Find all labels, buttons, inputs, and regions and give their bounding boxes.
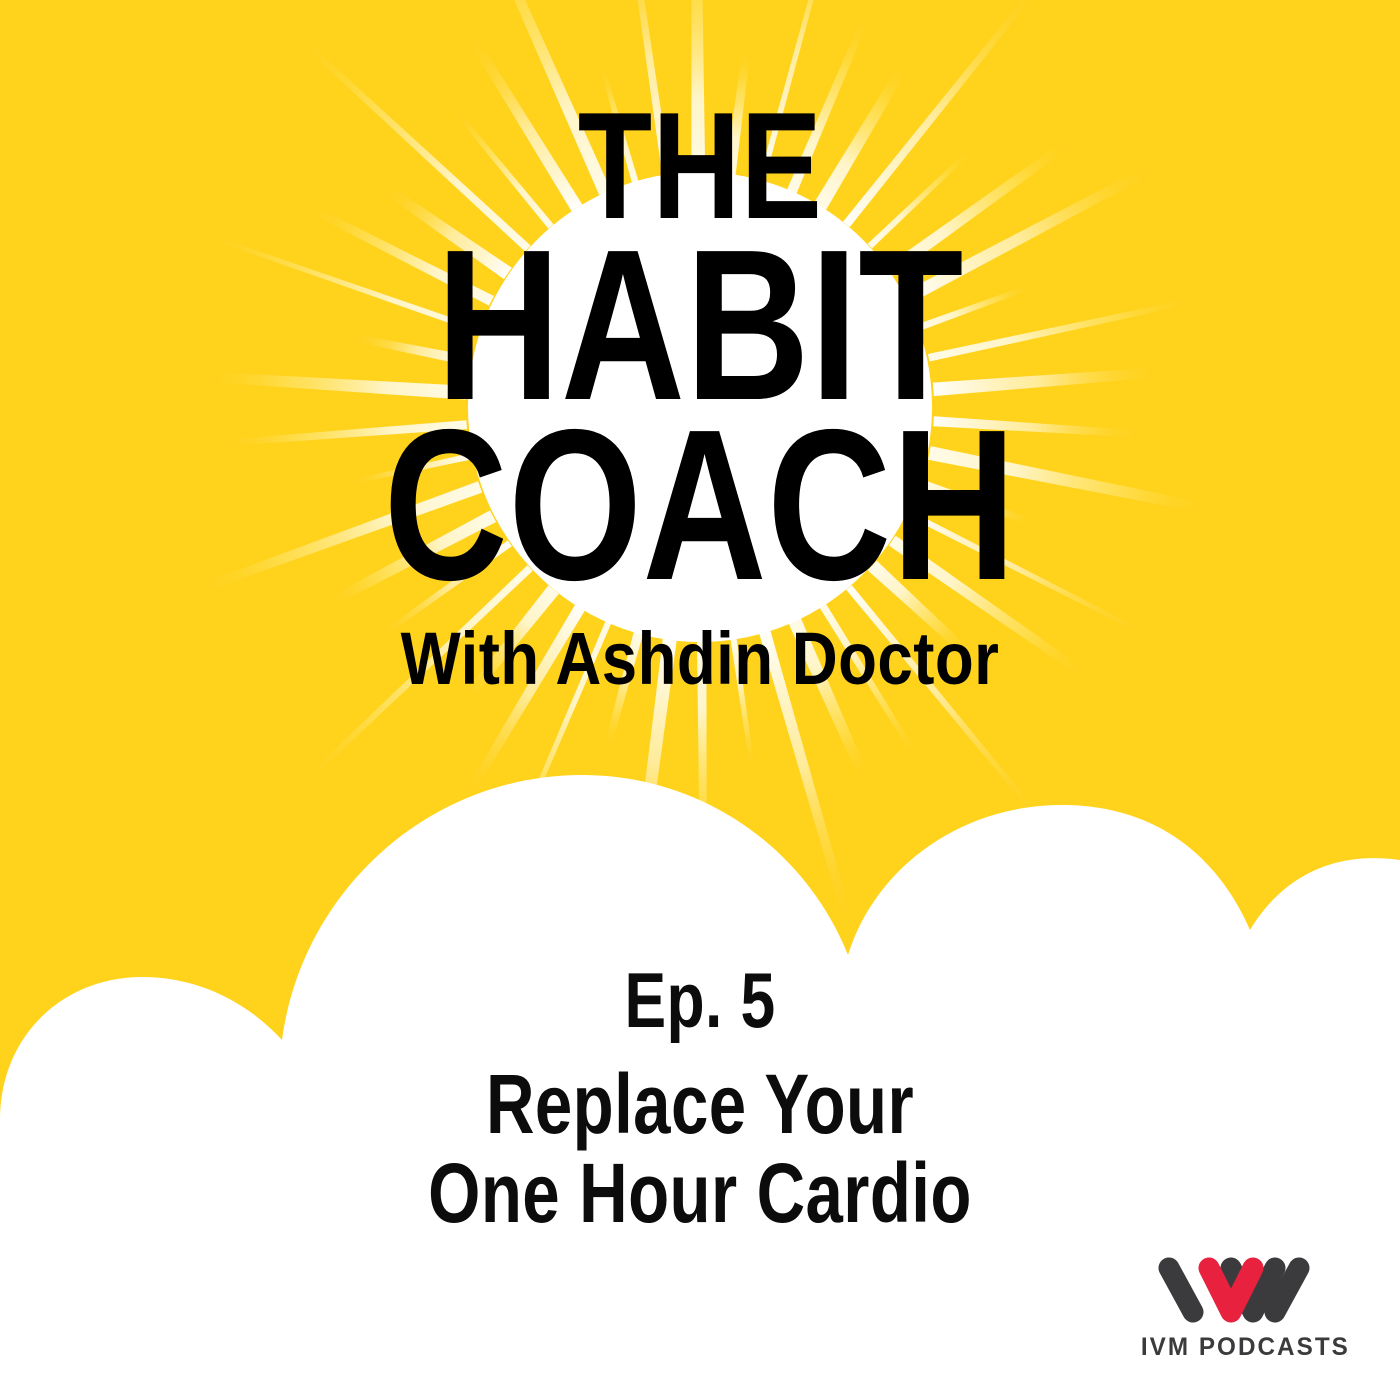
episode-info-block: Ep. 5 Replace Your One Hour Cardio [0,960,1400,1238]
ivm-wordmark: IVM PODCASTS [1141,1333,1325,1362]
ivm-mark-icon [1153,1255,1313,1325]
title-line-coach: COACH [140,404,1260,606]
ivm-podcasts-logo: IVM PODCASTS [1138,1255,1328,1362]
episode-title-line-1: Replace Your [140,1061,1260,1148]
podcast-cover-art: THE HABIT COACH With Ashdin Doctor Ep. 5… [0,0,1400,1400]
host-subtitle: With Ashdin Doctor [98,616,1302,701]
show-title-block: THE HABIT COACH With Ashdin Doctor [0,95,1400,701]
episode-title-line-2: One Hour Cardio [140,1150,1260,1237]
episode-number: Ep. 5 [140,960,1260,1041]
